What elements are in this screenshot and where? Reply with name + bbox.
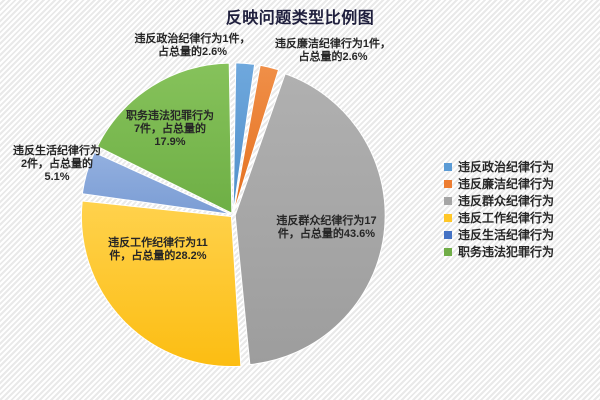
pie-label-life: 违反生活纪律行为 2件，占总量的 5.1%	[2, 145, 112, 184]
legend-swatch-icon	[444, 197, 452, 205]
legend-label: 职务违法犯罪行为	[458, 243, 554, 260]
pie-label-mass-line2: 件，占总量的43.6%	[249, 228, 404, 241]
pie-label-integrity-line2: 占总量的2.6%	[258, 51, 408, 64]
pie-label-integrity-line1: 违反廉洁纪律行为1件，	[258, 38, 408, 51]
pie-label-work-line1: 违反工作纪律行为11	[78, 237, 238, 250]
legend-label: 违反生活纪律行为	[458, 226, 554, 243]
chart-legend: 违反政治纪律行为 违反廉洁纪律行为 违反群众纪律行为 违反工作纪律行为 违反生活…	[444, 158, 596, 260]
pie-label-duty-crime: 职务违法犯罪行为 7件，占总量的 17.9%	[110, 110, 230, 149]
pie-label-duty-crime-line2: 7件，占总量的	[110, 123, 230, 136]
pie-label-life-line3: 5.1%	[2, 171, 112, 184]
legend-item-mass[interactable]: 违反群众纪律行为	[444, 192, 596, 209]
pie-label-mass-line1: 违反群众纪律行为17	[249, 215, 404, 228]
legend-item-work[interactable]: 违反工作纪律行为	[444, 209, 596, 226]
legend-label: 违反政治纪律行为	[458, 158, 554, 175]
legend-swatch-icon	[444, 214, 452, 222]
pie-label-mass: 违反群众纪律行为17 件，占总量的43.6%	[249, 215, 404, 241]
pie-label-life-line1: 违反生活纪律行为	[2, 145, 112, 158]
pie-chart-area: 违反政治纪律行为1件， 占总量的2.6% 违反廉洁纪律行为1件， 占总量的2.6…	[0, 0, 460, 400]
legend-label: 违反群众纪律行为	[458, 192, 554, 209]
legend-swatch-icon	[444, 248, 452, 256]
legend-label: 违反廉洁纪律行为	[458, 175, 554, 192]
pie-label-integrity: 违反廉洁纪律行为1件， 占总量的2.6%	[258, 38, 408, 64]
pie-slice-work[interactable]	[81, 201, 240, 366]
legend-item-integrity[interactable]: 违反廉洁纪律行为	[444, 175, 596, 192]
legend-item-life[interactable]: 违反生活纪律行为	[444, 226, 596, 243]
pie-label-work-line2: 件，占总量的28.2%	[78, 250, 238, 263]
pie-label-political: 违反政治纪律行为1件， 占总量的2.6%	[110, 33, 275, 59]
legend-item-duty-crime[interactable]: 职务违法犯罪行为	[444, 243, 596, 260]
legend-label: 违反工作纪律行为	[458, 209, 554, 226]
chart-canvas: 反映问题类型比例图	[0, 0, 600, 400]
pie-label-political-line1: 违反政治纪律行为1件，	[110, 33, 275, 46]
legend-swatch-icon	[444, 163, 452, 171]
pie-label-duty-crime-line3: 17.9%	[110, 136, 230, 149]
pie-label-duty-crime-line1: 职务违法犯罪行为	[110, 110, 230, 123]
pie-label-political-line2: 占总量的2.6%	[110, 46, 275, 59]
legend-item-political[interactable]: 违反政治纪律行为	[444, 158, 596, 175]
legend-swatch-icon	[444, 180, 452, 188]
pie-label-work: 违反工作纪律行为11 件，占总量的28.2%	[78, 237, 238, 263]
pie-label-life-line2: 2件，占总量的	[2, 158, 112, 171]
legend-swatch-icon	[444, 231, 452, 239]
